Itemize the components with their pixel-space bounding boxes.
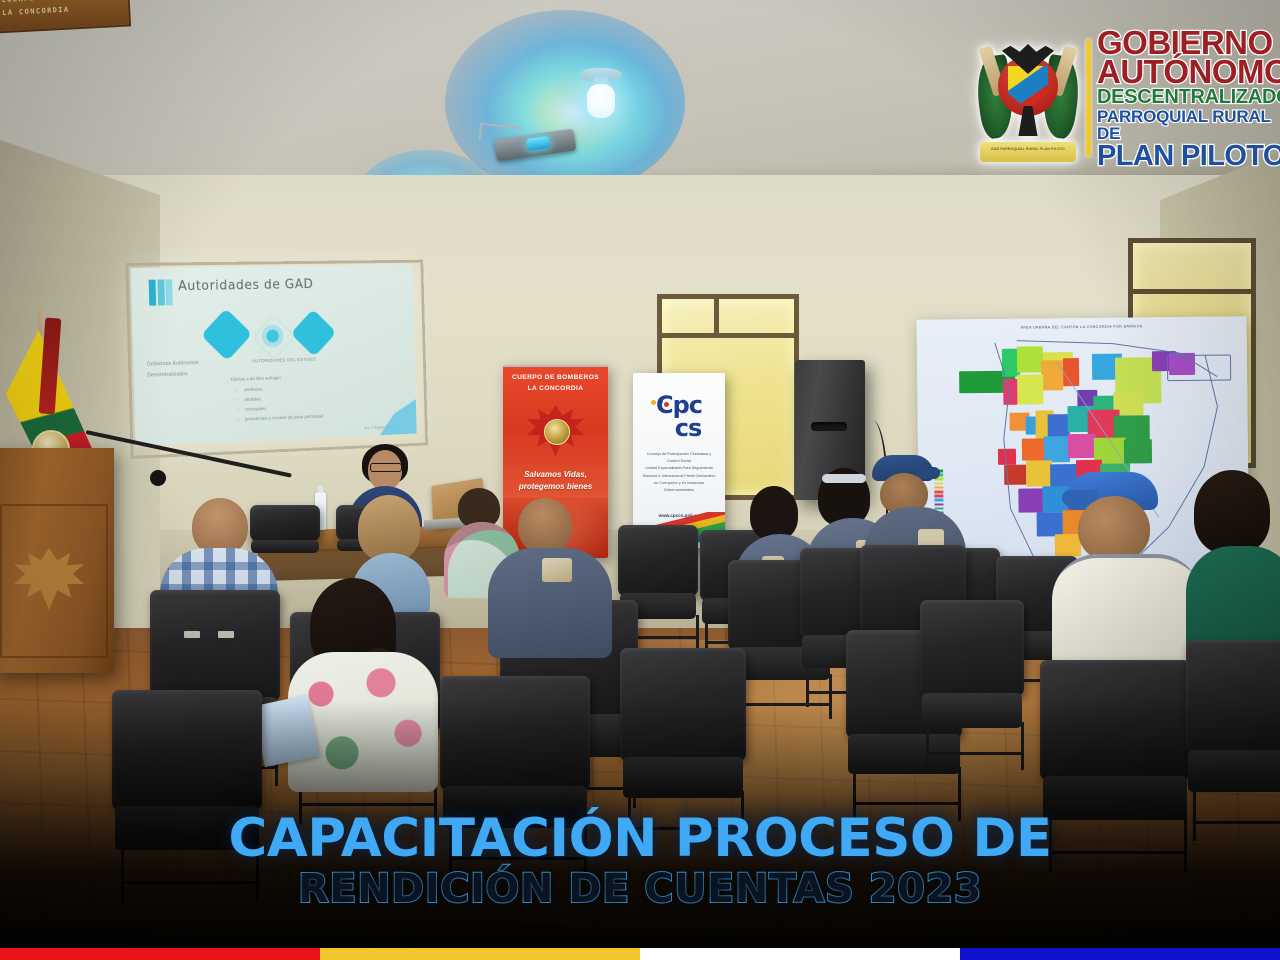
logo-divider	[1086, 39, 1091, 157]
chair	[920, 600, 1024, 760]
event-title-block: CAPACITACIÓN PROCESO DE RENDICIÓN DE CUE…	[0, 812, 1280, 912]
wooden-podium	[0, 448, 114, 673]
slide-body-intro: Electos a de libre sufragio:	[231, 372, 380, 384]
logo-line-4: PARROQUIAL RURAL DE	[1097, 108, 1280, 142]
bomberos-slogan-line-1: Salvamos Vidas,	[503, 469, 608, 481]
gad-plan-piloto-logo: GAD PARROQUIAL RURAL PLAN PILOTO GOBIERN…	[976, 28, 1262, 168]
glasses-icon	[370, 463, 402, 472]
projected-slide: Autoridades de GAD AUTORIDADES DEL ESTAD…	[131, 264, 417, 445]
slide-corner-decoration	[376, 395, 417, 439]
cpccs-rollup-banner: Cpc cs Consejo de Participación Ciudadan…	[633, 373, 725, 548]
slide-left-text: Gobiernos Autónomos Descentralizados	[147, 357, 229, 381]
logo-line-2: AUTÓNOMO	[1097, 55, 1280, 88]
bomberos-slogan-line-2: protegemos bienes	[503, 481, 608, 493]
slide-body: Electos a de libre sufragio: prefectos, …	[231, 372, 381, 426]
event-title-line-2: RENDICIÓN DE CUENTAS 2023	[0, 866, 1280, 912]
event-title-line-1: CAPACITACIÓN PROCESO DE	[0, 812, 1280, 866]
slide-accent-bars	[149, 279, 173, 305]
slide-title: Autoridades de GAD	[178, 277, 314, 294]
slide-diamond-left	[201, 308, 252, 361]
headband-icon	[822, 474, 866, 483]
bomberos-heading-line-1: CUERPO DE BOMBEROS	[503, 373, 608, 384]
crest-scroll-text: GAD PARROQUIAL RURAL PLAN PILOTO	[980, 147, 1076, 151]
slide-left-line-2: Descentralizados	[147, 368, 229, 381]
ecuador-colors-footer-bar	[0, 948, 1280, 960]
cpccs-subtitle: Consejo de Participación Ciudadana y Con…	[641, 451, 717, 494]
slide-center-caption: AUTORIDADES DEL ESTADO	[247, 357, 320, 366]
logo-line-5: PLAN PILOTO	[1097, 142, 1280, 171]
bomberos-banner-heading: CUERPO DE BOMBEROS LA CONCORDIA	[503, 373, 608, 394]
slide-bullet: presidentes y vocales de junta parroquia…	[245, 411, 380, 423]
uniform-badge-icon	[542, 558, 572, 582]
cpccs-subtitle-extra: Unidad Especializada Para Seguimiento Na…	[641, 465, 717, 494]
color-bar-segment-white	[640, 948, 960, 960]
slide-diamond-right	[291, 309, 337, 357]
chair	[1186, 640, 1280, 830]
color-bar-segment-red	[0, 948, 320, 960]
bomberos-heading-line-2: LA CONCORDIA	[503, 384, 608, 395]
slide-bullet-list: prefectos, alcaldes, concejales, preside…	[244, 382, 380, 422]
color-bar-segment-yellow	[320, 948, 640, 960]
chair	[250, 505, 320, 565]
maltese-cross-icon	[527, 405, 585, 457]
ecuador-coat-of-arms-icon: GAD PARROQUIAL RURAL PLAN PILOTO	[976, 32, 1080, 164]
logo-line-3: DESCENTRALIZADO	[1097, 87, 1280, 107]
color-bar-segment-blue	[960, 948, 1280, 960]
microphone-icon	[150, 470, 166, 486]
bomberos-banner-slogan: Salvamos Vidas, protegemos bienes	[503, 469, 608, 493]
cpccs-subtitle-main: Consejo de Participación Ciudadana y Con…	[641, 451, 717, 465]
event-banner-image: Autoridades de GAD AUTORIDADES DEL ESTAD…	[0, 0, 1280, 960]
logo-text-block: GOBIERNO AUTÓNOMO DESCENTRALIZADO PARROQ…	[1097, 26, 1280, 171]
cpccs-logo-line-2: cs	[651, 417, 725, 440]
